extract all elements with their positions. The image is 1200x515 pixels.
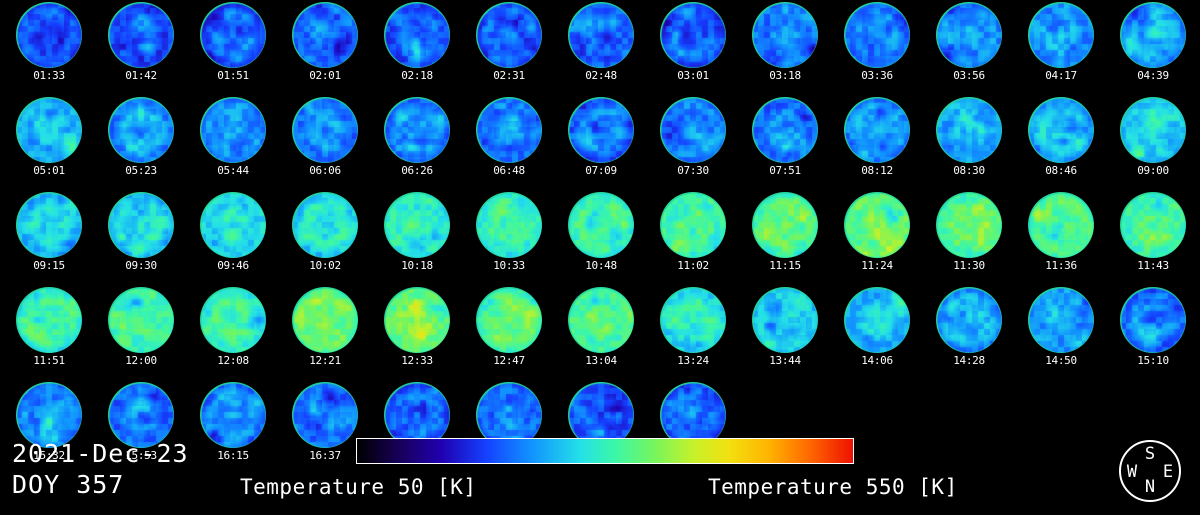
disk-image bbox=[1120, 287, 1186, 353]
planetary-disk bbox=[108, 192, 174, 258]
disk-frame[interactable]: 01:51 bbox=[187, 0, 279, 95]
frame-timestamp: 10:02 bbox=[309, 260, 341, 272]
disk-frame[interactable]: 07:09 bbox=[555, 95, 647, 190]
disk-image bbox=[568, 2, 634, 68]
disk-frame[interactable]: 08:46 bbox=[1015, 95, 1107, 190]
disk-image bbox=[16, 2, 82, 68]
disk-frame[interactable]: 09:46 bbox=[187, 190, 279, 285]
planetary-disk bbox=[292, 97, 358, 163]
disk-image bbox=[292, 192, 358, 258]
frame-timestamp: 11:51 bbox=[33, 355, 65, 367]
frame-timestamp: 10:33 bbox=[493, 260, 525, 272]
mosaic-row: 11:5112:0012:0812:2112:3312:4713:0413:24… bbox=[0, 285, 1200, 380]
disk-image bbox=[384, 287, 450, 353]
disk-frame[interactable]: 03:01 bbox=[647, 0, 739, 95]
disk-frame[interactable]: 16:15 bbox=[187, 380, 279, 475]
planetary-disk bbox=[384, 97, 450, 163]
frame-timestamp: 13:44 bbox=[769, 355, 801, 367]
frame-timestamp: 02:31 bbox=[493, 70, 525, 82]
disk-image bbox=[16, 287, 82, 353]
disk-frame[interactable]: 05:23 bbox=[95, 95, 187, 190]
frame-timestamp: 12:21 bbox=[309, 355, 341, 367]
disk-frame[interactable]: 07:30 bbox=[647, 95, 739, 190]
disk-frame[interactable]: 09:15 bbox=[3, 190, 95, 285]
disk-frame[interactable]: 06:48 bbox=[463, 95, 555, 190]
disk-image bbox=[660, 2, 726, 68]
disk-image bbox=[108, 2, 174, 68]
frame-timestamp: 11:15 bbox=[769, 260, 801, 272]
planetary-disk bbox=[200, 382, 266, 448]
disk-frame[interactable]: 11:02 bbox=[647, 190, 739, 285]
planetary-disk bbox=[844, 287, 910, 353]
disk-image bbox=[660, 192, 726, 258]
planetary-disk bbox=[292, 2, 358, 68]
disk-image bbox=[660, 97, 726, 163]
disk-image bbox=[936, 2, 1002, 68]
disk-image bbox=[752, 287, 818, 353]
frame-timestamp: 05:44 bbox=[217, 165, 249, 177]
disk-frame[interactable]: 06:26 bbox=[371, 95, 463, 190]
frame-timestamp: 11:36 bbox=[1045, 260, 1077, 272]
frame-timestamp: 06:26 bbox=[401, 165, 433, 177]
planetary-disk bbox=[660, 287, 726, 353]
planetary-disk bbox=[16, 2, 82, 68]
frame-timestamp: 08:46 bbox=[1045, 165, 1077, 177]
disk-image bbox=[936, 192, 1002, 258]
disk-frame[interactable]: 12:47 bbox=[463, 285, 555, 380]
planetary-disk bbox=[476, 192, 542, 258]
disk-image bbox=[936, 97, 1002, 163]
disk-frame[interactable]: 10:18 bbox=[371, 190, 463, 285]
disk-image bbox=[1120, 192, 1186, 258]
disk-frame[interactable]: 11:15 bbox=[739, 190, 831, 285]
mosaic-row: 01:3301:4201:5102:0102:1802:3102:4803:01… bbox=[0, 0, 1200, 95]
disk-frame[interactable]: 10:48 bbox=[555, 190, 647, 285]
disk-image bbox=[384, 97, 450, 163]
frame-timestamp: 09:30 bbox=[125, 260, 157, 272]
disk-image bbox=[1120, 2, 1186, 68]
disk-frame[interactable]: 08:30 bbox=[923, 95, 1015, 190]
disk-image bbox=[660, 287, 726, 353]
frame-timestamp: 08:12 bbox=[861, 165, 893, 177]
frame-timestamp: 12:33 bbox=[401, 355, 433, 367]
planetary-disk bbox=[752, 2, 818, 68]
planetary-disk bbox=[200, 192, 266, 258]
planetary-disk bbox=[108, 97, 174, 163]
disk-frame[interactable]: 11:51 bbox=[3, 285, 95, 380]
planetary-disk bbox=[16, 287, 82, 353]
disk-frame[interactable]: 02:18 bbox=[371, 0, 463, 95]
disk-image bbox=[568, 97, 634, 163]
disk-image bbox=[1028, 287, 1094, 353]
disk-image bbox=[844, 2, 910, 68]
disk-frame[interactable]: 04:39 bbox=[1107, 0, 1199, 95]
disk-image bbox=[16, 97, 82, 163]
disk-image bbox=[200, 192, 266, 258]
planetary-disk bbox=[752, 287, 818, 353]
disk-frame[interactable]: 14:28 bbox=[923, 285, 1015, 380]
colorbar bbox=[356, 438, 854, 464]
svg-text:N: N bbox=[1145, 477, 1155, 497]
planetary-disk bbox=[568, 287, 634, 353]
frame-timestamp: 11:02 bbox=[677, 260, 709, 272]
frame-timestamp: 02:01 bbox=[309, 70, 341, 82]
planetary-disk bbox=[292, 192, 358, 258]
frame-timestamp: 14:50 bbox=[1045, 355, 1077, 367]
planetary-disk bbox=[844, 97, 910, 163]
disk-image bbox=[292, 2, 358, 68]
disk-frame[interactable]: 12:33 bbox=[371, 285, 463, 380]
disk-frame[interactable]: 01:42 bbox=[95, 0, 187, 95]
disk-image bbox=[752, 97, 818, 163]
planetary-disk bbox=[200, 2, 266, 68]
disk-image bbox=[1120, 97, 1186, 163]
disk-image bbox=[844, 97, 910, 163]
planetary-disk bbox=[1028, 287, 1094, 353]
planetary-disk bbox=[660, 192, 726, 258]
frame-timestamp: 01:51 bbox=[217, 70, 249, 82]
planetary-disk bbox=[384, 2, 450, 68]
colorbar-label-max: Temperature 550 [K] bbox=[708, 475, 958, 499]
frame-timestamp: 07:09 bbox=[585, 165, 617, 177]
frame-timestamp: 11:24 bbox=[861, 260, 893, 272]
planetary-disk bbox=[568, 97, 634, 163]
disk-frame[interactable]: 05:44 bbox=[187, 95, 279, 190]
frame-timestamp: 12:08 bbox=[217, 355, 249, 367]
date-block: 2021-Dec-23 DOY 357 bbox=[12, 440, 189, 498]
frame-timestamp: 14:28 bbox=[953, 355, 985, 367]
planetary-disk bbox=[200, 97, 266, 163]
planetary-disk bbox=[476, 2, 542, 68]
frame-timestamp: 04:39 bbox=[1137, 70, 1169, 82]
frame-timestamp: 05:23 bbox=[125, 165, 157, 177]
disk-frame[interactable]: 11:24 bbox=[831, 190, 923, 285]
disk-frame[interactable]: 02:01 bbox=[279, 0, 371, 95]
planetary-disk bbox=[660, 97, 726, 163]
svg-text:S: S bbox=[1145, 444, 1155, 464]
planetary-disk bbox=[936, 192, 1002, 258]
disk-frame[interactable]: 01:33 bbox=[3, 0, 95, 95]
disk-frame[interactable]: 03:36 bbox=[831, 0, 923, 95]
frame-timestamp: 12:47 bbox=[493, 355, 525, 367]
planetary-disk bbox=[292, 382, 358, 448]
disk-frame[interactable]: 03:18 bbox=[739, 0, 831, 95]
frame-timestamp: 01:42 bbox=[125, 70, 157, 82]
planetary-disk bbox=[844, 2, 910, 68]
frame-timestamp: 02:48 bbox=[585, 70, 617, 82]
planetary-disk bbox=[1028, 192, 1094, 258]
disk-frame[interactable]: 08:12 bbox=[831, 95, 923, 190]
frame-timestamp: 14:06 bbox=[861, 355, 893, 367]
disk-frame[interactable]: 06:06 bbox=[279, 95, 371, 190]
disk-image bbox=[936, 287, 1002, 353]
frame-timestamp: 10:18 bbox=[401, 260, 433, 272]
frame-timestamp: 11:30 bbox=[953, 260, 985, 272]
frame-timestamp: 11:43 bbox=[1137, 260, 1169, 272]
disk-image bbox=[108, 192, 174, 258]
disk-frame[interactable]: 02:48 bbox=[555, 0, 647, 95]
planetary-disk bbox=[292, 287, 358, 353]
disk-image bbox=[1028, 2, 1094, 68]
disk-image bbox=[1028, 97, 1094, 163]
disk-frame[interactable]: 10:02 bbox=[279, 190, 371, 285]
disk-image bbox=[844, 192, 910, 258]
frame-timestamp: 05:01 bbox=[33, 165, 65, 177]
planetary-disk bbox=[844, 192, 910, 258]
colorbar-label-min: Temperature 50 [K] bbox=[240, 475, 477, 499]
planetary-disk bbox=[384, 287, 450, 353]
disk-frame[interactable]: 13:24 bbox=[647, 285, 739, 380]
frame-timestamp: 15:10 bbox=[1137, 355, 1169, 367]
disk-frame[interactable]: 10:33 bbox=[463, 190, 555, 285]
disk-image bbox=[292, 382, 358, 448]
planetary-disk bbox=[476, 287, 542, 353]
disk-frame[interactable]: 12:08 bbox=[187, 285, 279, 380]
disk-image bbox=[476, 2, 542, 68]
disk-image bbox=[1028, 192, 1094, 258]
frame-timestamp: 02:18 bbox=[401, 70, 433, 82]
disk-frame[interactable]: 11:43 bbox=[1107, 190, 1199, 285]
planetary-disk bbox=[936, 2, 1002, 68]
disk-image bbox=[752, 2, 818, 68]
frame-timestamp: 09:46 bbox=[217, 260, 249, 272]
frame-timestamp: 07:30 bbox=[677, 165, 709, 177]
frame-timestamp: 10:48 bbox=[585, 260, 617, 272]
planetary-disk bbox=[476, 97, 542, 163]
disk-image bbox=[476, 97, 542, 163]
disk-frame[interactable]: 15:10 bbox=[1107, 285, 1199, 380]
disk-frame[interactable]: 12:21 bbox=[279, 285, 371, 380]
mosaic-row: 05:0105:2305:4406:0606:2606:4807:0907:30… bbox=[0, 95, 1200, 190]
disk-image bbox=[200, 97, 266, 163]
disk-frame[interactable]: 05:01 bbox=[3, 95, 95, 190]
disk-frame[interactable]: 09:30 bbox=[95, 190, 187, 285]
day-of-year: DOY 357 bbox=[12, 471, 189, 498]
planetary-disk bbox=[660, 2, 726, 68]
disk-image bbox=[200, 287, 266, 353]
disk-frame[interactable]: 14:50 bbox=[1015, 285, 1107, 380]
disk-image bbox=[200, 382, 266, 448]
disk-frame[interactable]: 13:04 bbox=[555, 285, 647, 380]
planetary-disk bbox=[108, 287, 174, 353]
planetary-disk bbox=[568, 2, 634, 68]
disk-frame[interactable]: 14:06 bbox=[831, 285, 923, 380]
disk-image bbox=[384, 2, 450, 68]
planetary-disk bbox=[1120, 192, 1186, 258]
disk-frame[interactable]: 04:17 bbox=[1015, 0, 1107, 95]
planetary-disk bbox=[1028, 97, 1094, 163]
planetary-disk bbox=[936, 287, 1002, 353]
frame-timestamp: 03:01 bbox=[677, 70, 709, 82]
svg-text:W: W bbox=[1127, 462, 1138, 482]
frame-timestamp: 08:30 bbox=[953, 165, 985, 177]
disk-frame[interactable]: 11:36 bbox=[1015, 190, 1107, 285]
observation-date: 2021-Dec-23 bbox=[12, 440, 189, 467]
colorbar-gradient bbox=[357, 439, 853, 463]
disk-image bbox=[384, 192, 450, 258]
disk-frame[interactable]: 03:56 bbox=[923, 0, 1015, 95]
planetary-disk bbox=[568, 192, 634, 258]
frame-timestamp: 06:06 bbox=[309, 165, 341, 177]
planetary-disk bbox=[936, 97, 1002, 163]
planetary-disk bbox=[16, 192, 82, 258]
disk-image bbox=[568, 287, 634, 353]
planetary-disk bbox=[108, 2, 174, 68]
planetary-disk bbox=[1120, 2, 1186, 68]
frame-timestamp: 03:36 bbox=[861, 70, 893, 82]
frame-timestamp: 06:48 bbox=[493, 165, 525, 177]
frame-timestamp: 09:00 bbox=[1137, 165, 1169, 177]
frame-timestamp: 09:15 bbox=[33, 260, 65, 272]
frame-timestamp: 03:18 bbox=[769, 70, 801, 82]
disk-frame[interactable]: 02:31 bbox=[463, 0, 555, 95]
planetary-disk bbox=[200, 287, 266, 353]
disk-image bbox=[752, 192, 818, 258]
planetary-disk bbox=[1120, 97, 1186, 163]
frame-timestamp: 01:33 bbox=[33, 70, 65, 82]
disk-image bbox=[292, 287, 358, 353]
disk-frame[interactable]: 07:51 bbox=[739, 95, 831, 190]
svg-text:E: E bbox=[1163, 462, 1173, 482]
disk-frame[interactable]: 13:44 bbox=[739, 285, 831, 380]
planetary-disk bbox=[384, 192, 450, 258]
frame-timestamp: 13:24 bbox=[677, 355, 709, 367]
frame-timestamp: 16:15 bbox=[217, 450, 249, 462]
compass-rose: S N W E bbox=[1113, 434, 1187, 508]
frame-timestamp: 03:56 bbox=[953, 70, 985, 82]
disk-image bbox=[108, 97, 174, 163]
planetary-disk bbox=[752, 192, 818, 258]
figure-canvas: 01:3301:4201:5102:0102:1802:3102:4803:01… bbox=[0, 0, 1200, 515]
planetary-disk bbox=[752, 97, 818, 163]
disk-image bbox=[16, 192, 82, 258]
disk-frame[interactable]: 09:00 bbox=[1107, 95, 1199, 190]
disk-image bbox=[476, 192, 542, 258]
disk-image bbox=[844, 287, 910, 353]
frame-timestamp: 07:51 bbox=[769, 165, 801, 177]
frame-timestamp: 13:04 bbox=[585, 355, 617, 367]
disk-frame[interactable]: 11:30 bbox=[923, 190, 1015, 285]
mosaic-row: 09:1509:3009:4610:0210:1810:3310:4811:02… bbox=[0, 190, 1200, 285]
planetary-disk bbox=[1028, 2, 1094, 68]
frame-timestamp: 04:17 bbox=[1045, 70, 1077, 82]
frame-timestamp: 12:00 bbox=[125, 355, 157, 367]
planetary-disk bbox=[16, 97, 82, 163]
disk-image bbox=[200, 2, 266, 68]
frame-timestamp: 16:37 bbox=[309, 450, 341, 462]
disk-image bbox=[292, 97, 358, 163]
disk-image bbox=[568, 192, 634, 258]
planetary-disk bbox=[1120, 287, 1186, 353]
disk-image bbox=[476, 287, 542, 353]
disk-image bbox=[108, 287, 174, 353]
disk-frame[interactable]: 12:00 bbox=[95, 285, 187, 380]
